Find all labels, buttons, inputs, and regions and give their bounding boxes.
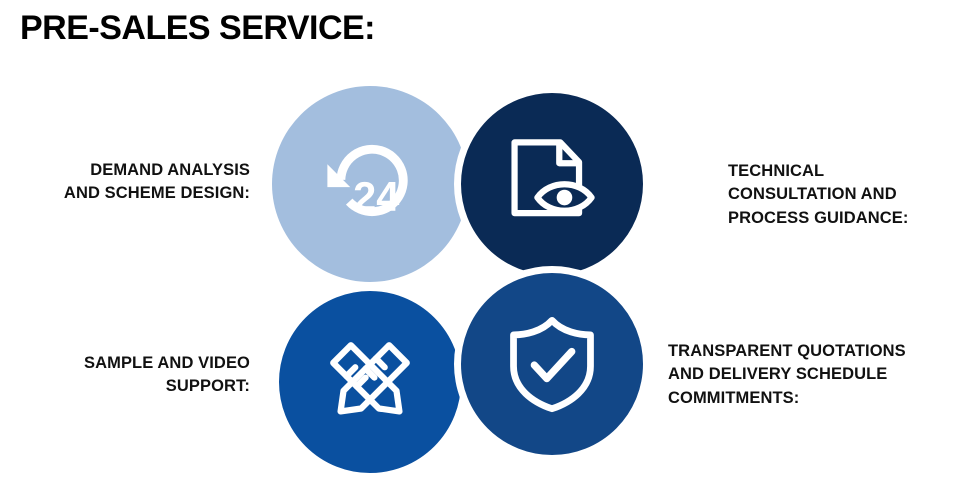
label-line: TECHNICAL — [728, 160, 960, 183]
label-line: COMMITMENTS: — [668, 387, 960, 410]
circle-transparent-quotations[interactable] — [454, 266, 650, 462]
page-title: PRE-SALES SERVICE: — [20, 8, 375, 49]
label-technical-consultation: TECHNICAL CONSULTATION AND PROCESS GUIDA… — [728, 160, 960, 230]
infographic-stage: PRE-SALES SERVICE: 24 — [0, 0, 960, 498]
label-line: PROCESS GUIDANCE: — [728, 207, 960, 230]
label-line: CONSULTATION AND — [728, 183, 960, 206]
shield-check-icon — [500, 312, 604, 416]
label-line: DEMAND ANALYSIS — [10, 159, 250, 182]
circle-sample-video-support[interactable] — [272, 284, 468, 480]
label-sample-video-support: SAMPLE AND VIDEO SUPPORT: — [10, 352, 250, 399]
circle-cluster: 24 — [272, 86, 668, 480]
label-line: SUPPORT: — [10, 375, 250, 398]
label-line: SAMPLE AND VIDEO — [10, 352, 250, 375]
24-hour-rotate-icon: 24 — [318, 132, 422, 236]
label-demand-analysis: DEMAND ANALYSIS AND SCHEME DESIGN: — [10, 159, 250, 206]
label-line: AND DELIVERY SCHEDULE — [668, 363, 960, 386]
circle-demand-analysis[interactable]: 24 — [272, 86, 468, 282]
crossed-pens-icon — [318, 330, 422, 434]
label-line: AND SCHEME DESIGN: — [10, 182, 250, 205]
label-line: TRANSPARENT QUOTATIONS — [668, 340, 960, 363]
document-eye-icon — [500, 132, 604, 236]
circle-technical-consultation[interactable] — [454, 86, 650, 282]
label-transparent-quotations: TRANSPARENT QUOTATIONS AND DELIVERY SCHE… — [668, 340, 960, 410]
svg-text:24: 24 — [353, 173, 399, 220]
